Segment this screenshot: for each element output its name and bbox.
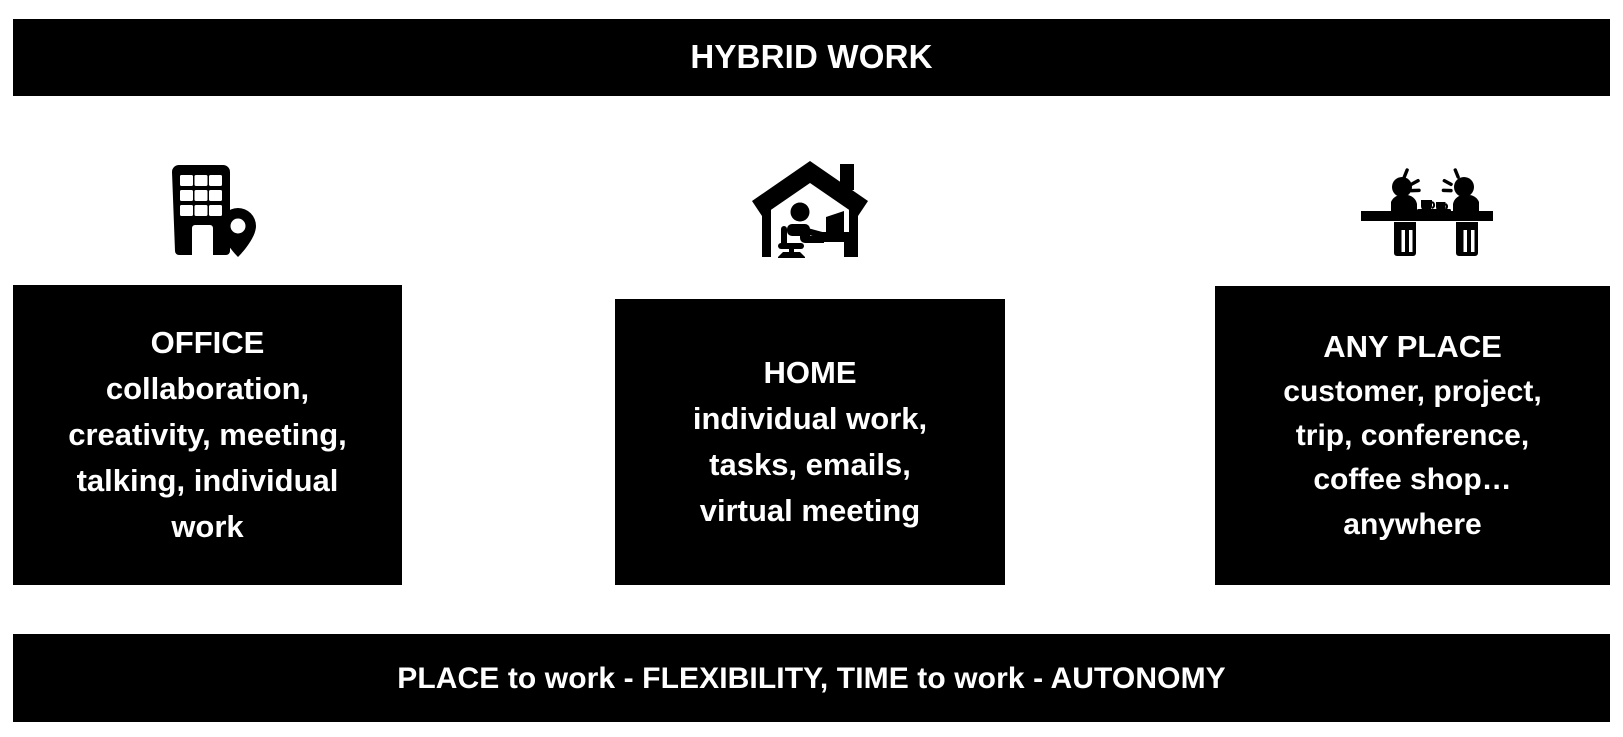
card-home-line-3: virtual meeting	[700, 488, 921, 534]
card-office-line-3: talking, individual	[77, 458, 339, 504]
anyplace-icon-area	[1215, 130, 1610, 285]
card-anyplace-line-2: trip, conference,	[1296, 414, 1529, 458]
card-office-line-4: work	[171, 504, 243, 550]
home-desk-worker-icon	[748, 158, 872, 258]
hybrid-work-slide: HYBRID WORK	[0, 0, 1623, 737]
card-office: OFFICE collaboration, creativity, meetin…	[13, 285, 402, 585]
page-title: HYBRID WORK	[690, 39, 932, 75]
footer-tagline: PLACE to work - FLEXIBILITY, TIME to wor…	[397, 662, 1226, 695]
column-anyplace: ANY PLACE customer, project, trip, confe…	[1215, 130, 1610, 585]
column-home: HOME individual work, tasks, emails, vir…	[615, 130, 1005, 585]
card-home: HOME individual work, tasks, emails, vir…	[615, 299, 1005, 585]
card-office-title: OFFICE	[151, 320, 265, 366]
card-anyplace-line-1: customer, project,	[1283, 370, 1541, 414]
card-anyplace-title: ANY PLACE	[1323, 324, 1502, 370]
column-office: OFFICE collaboration, creativity, meetin…	[13, 130, 402, 585]
card-home-line-1: individual work,	[693, 396, 927, 442]
office-icon-area	[13, 130, 402, 285]
card-office-line-1: collaboration,	[106, 366, 309, 412]
header-banner: HYBRID WORK	[13, 19, 1610, 96]
cafe-counter-people-icon	[1333, 158, 1493, 258]
home-icon-area	[615, 130, 1005, 285]
card-anyplace-line-3: coffee shop…	[1313, 458, 1511, 502]
card-home-title: HOME	[764, 350, 857, 396]
card-anyplace-line-4: anywhere	[1343, 503, 1481, 547]
card-home-line-2: tasks, emails,	[709, 442, 911, 488]
card-office-line-2: creativity, meeting,	[68, 412, 347, 458]
footer-banner: PLACE to work - FLEXIBILITY, TIME to wor…	[13, 634, 1610, 722]
card-anyplace: ANY PLACE customer, project, trip, confe…	[1215, 286, 1610, 585]
office-building-location-icon	[156, 158, 260, 258]
